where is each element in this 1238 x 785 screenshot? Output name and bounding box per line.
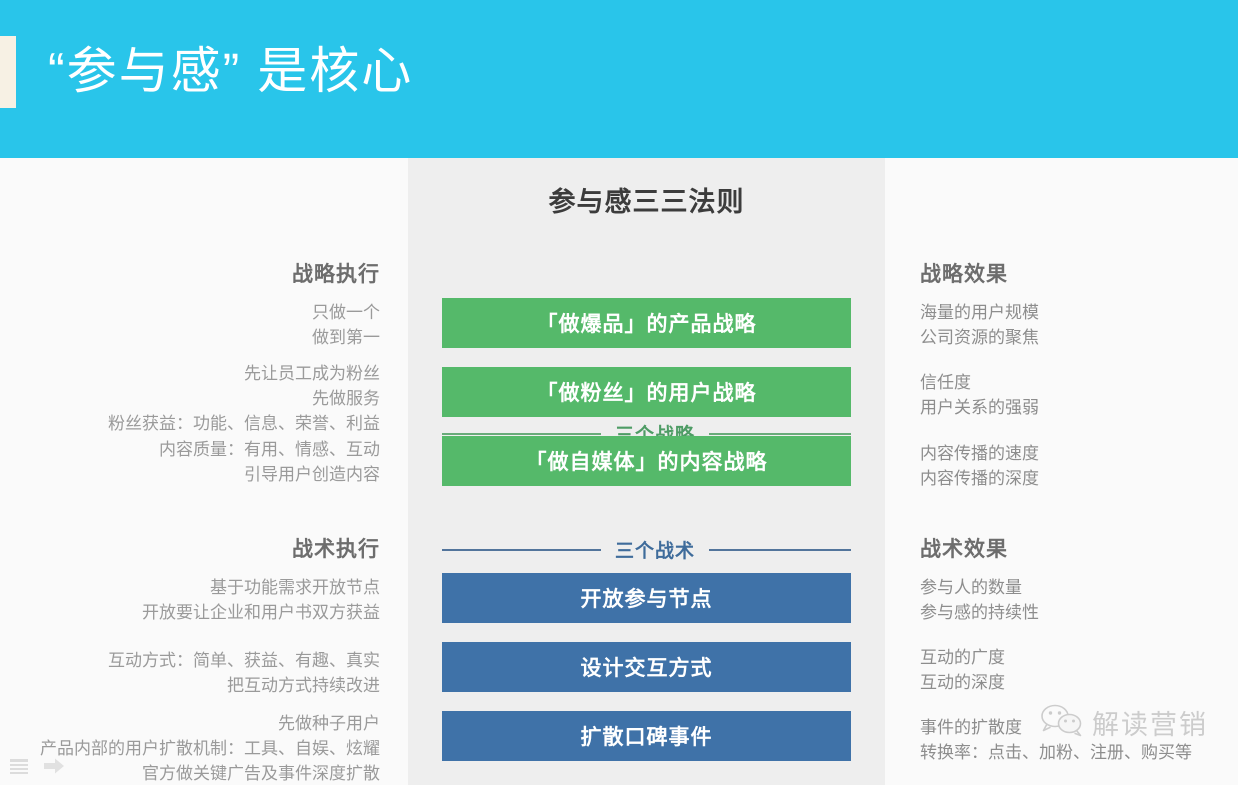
right-group-1: 信任度 用户关系的强弱 <box>920 370 1238 420</box>
right-heading-strategy-effect: 战略效果 <box>920 258 1008 288</box>
left-group-3: 基于功能需求开放节点 开放要让企业和用户书双方获益 <box>20 575 380 625</box>
right-column: 战略效果 海量的用户规模 公司资源的聚焦 信任度 用户关系的强弱 内容传播的速度… <box>920 158 1238 785</box>
left-column: 战略执行 只做一个 做到第一 先让员工成为粉丝 先做服务 粉丝获益：功能、信息、… <box>20 158 380 785</box>
right-line: 参与人的数量 <box>920 575 1238 600</box>
left-line: 粉丝获益：功能、信息、荣誉、利益 <box>20 411 380 436</box>
right-line: 互动的广度 <box>920 645 1238 670</box>
strategy-box-2[interactable]: 「做粉丝」的用户战略 <box>442 367 851 417</box>
left-line: 官方做关键广告及事件深度扩散 <box>20 761 380 785</box>
tactics-box-1[interactable]: 开放参与节点 <box>442 573 851 623</box>
divider-rule-right <box>709 549 851 551</box>
panel-title: 参与感三三法则 <box>408 180 885 219</box>
list-icon[interactable] <box>10 759 28 774</box>
center-panel: 参与感三三法则 三个战略 「做爆品」的产品战略 「做粉丝」的用户战略 「做自媒体… <box>408 158 885 785</box>
strategy-box-3[interactable]: 「做自媒体」的内容战略 <box>442 436 851 486</box>
section-divider-tactics: 三个战术 <box>442 536 851 563</box>
left-line: 先让员工成为粉丝 <box>20 361 380 386</box>
left-line: 先做种子用户 <box>20 711 380 736</box>
slide-body: 战略执行 只做一个 做到第一 先让员工成为粉丝 先做服务 粉丝获益：功能、信息、… <box>0 158 1238 785</box>
left-line: 基于功能需求开放节点 <box>20 575 380 600</box>
right-line: 转换率：点击、加粉、注册、购买等 <box>920 740 1238 765</box>
left-line: 先做服务 <box>20 386 380 411</box>
right-line: 事件的扩散度 <box>920 715 1238 740</box>
right-group-0: 海量的用户规模 公司资源的聚焦 <box>920 300 1238 350</box>
right-line: 互动的深度 <box>920 670 1238 695</box>
divider-rule-left <box>442 433 601 435</box>
left-line: 内容质量：有用、情感、互动 <box>20 437 380 462</box>
right-line: 信任度 <box>920 370 1238 395</box>
right-group-3: 参与人的数量 参与感的持续性 <box>920 575 1238 625</box>
left-group-2: 内容质量：有用、情感、互动 引导用户创造内容 <box>20 437 380 487</box>
left-line: 把互动方式持续改进 <box>20 673 380 698</box>
right-group-2: 内容传播的速度 内容传播的深度 <box>920 441 1238 491</box>
right-line: 用户关系的强弱 <box>920 395 1238 420</box>
right-group-4: 互动的广度 互动的深度 <box>920 645 1238 695</box>
left-line: 引导用户创造内容 <box>20 462 380 487</box>
divider-rule-left <box>442 549 601 551</box>
right-line: 内容传播的速度 <box>920 441 1238 466</box>
left-line: 做到第一 <box>20 325 380 350</box>
section-label-tactics: 三个战术 <box>615 536 695 563</box>
right-line: 参与感的持续性 <box>920 600 1238 625</box>
left-line: 互动方式：简单、获益、有趣、真实 <box>20 648 380 673</box>
left-group-0: 只做一个 做到第一 <box>20 300 380 350</box>
page-title: “参与感” 是核心 <box>48 34 413 108</box>
slide: “参与感” 是核心 战略执行 只做一个 做到第一 先让员工成为粉丝 先做服务 粉… <box>0 0 1238 785</box>
slide-header: “参与感” 是核心 <box>0 0 1238 158</box>
left-heading-tactics-execution: 战术执行 <box>292 533 380 563</box>
left-line: 产品内部的用户扩散机制：工具、自娱、炫耀 <box>20 736 380 761</box>
header-accent-bar <box>0 36 16 108</box>
left-group-4: 互动方式：简单、获益、有趣、真实 把互动方式持续改进 <box>20 648 380 698</box>
corner-icon-group <box>10 758 64 774</box>
strategy-box-1[interactable]: 「做爆品」的产品战略 <box>442 298 851 348</box>
tactics-box-3[interactable]: 扩散口碑事件 <box>442 711 851 761</box>
tactics-box-2[interactable]: 设计交互方式 <box>442 642 851 692</box>
right-line: 海量的用户规模 <box>920 300 1238 325</box>
right-line: 内容传播的深度 <box>920 466 1238 491</box>
divider-rule-right <box>709 433 851 435</box>
left-line: 开放要让企业和用户书双方获益 <box>20 600 380 625</box>
right-group-5: 事件的扩散度 转换率：点击、加粉、注册、购买等 <box>920 715 1238 765</box>
arrow-right-icon[interactable] <box>44 758 64 774</box>
right-line: 公司资源的聚焦 <box>920 325 1238 350</box>
left-heading-strategy-execution: 战略执行 <box>292 258 380 288</box>
right-heading-tactics-effect: 战术效果 <box>920 533 1008 563</box>
left-line: 只做一个 <box>20 300 380 325</box>
left-group-1: 先让员工成为粉丝 先做服务 粉丝获益：功能、信息、荣誉、利益 <box>20 361 380 436</box>
left-group-5: 先做种子用户 产品内部的用户扩散机制：工具、自娱、炫耀 官方做关键广告及事件深度… <box>20 711 380 785</box>
